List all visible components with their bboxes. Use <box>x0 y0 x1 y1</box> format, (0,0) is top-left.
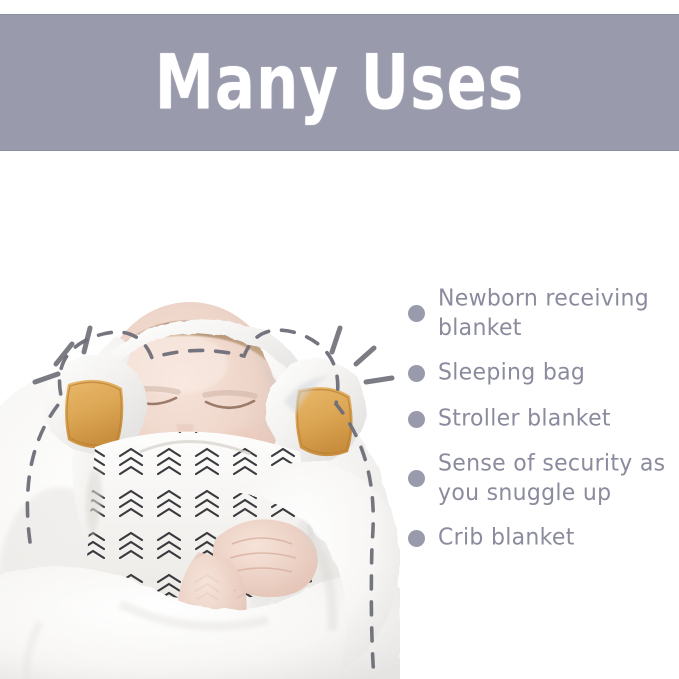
list-item: Newborn receiving blanket <box>408 286 670 341</box>
page-title: Many Uses <box>155 45 524 121</box>
list-item: Sense of security as you snuggle up <box>408 451 670 506</box>
bullet-icon <box>408 470 425 487</box>
use-label: Crib blanket <box>438 524 575 553</box>
bullet-icon <box>408 305 425 322</box>
use-label: Newborn receiving blanket <box>438 285 670 343</box>
bullet-icon <box>408 411 425 428</box>
bullet-icon <box>408 365 425 382</box>
header-banner: Many Uses <box>0 14 679 151</box>
list-item: Sleeping bag <box>408 359 670 387</box>
bullet-icon <box>408 530 425 547</box>
product-feature-card: Many Uses <box>0 0 679 679</box>
list-item: Stroller blanket <box>408 405 670 433</box>
use-label: Sleeping bag <box>438 359 585 388</box>
ear-patch-left <box>65 380 123 448</box>
baby-blanket-photo <box>0 152 400 679</box>
use-label: Sense of security as you snuggle up <box>438 449 670 507</box>
list-item: Crib blanket <box>408 524 670 552</box>
uses-list: Newborn receiving blanket Sleeping bag S… <box>408 286 670 552</box>
photo-illustration <box>0 152 400 679</box>
use-label: Stroller blanket <box>438 404 611 433</box>
